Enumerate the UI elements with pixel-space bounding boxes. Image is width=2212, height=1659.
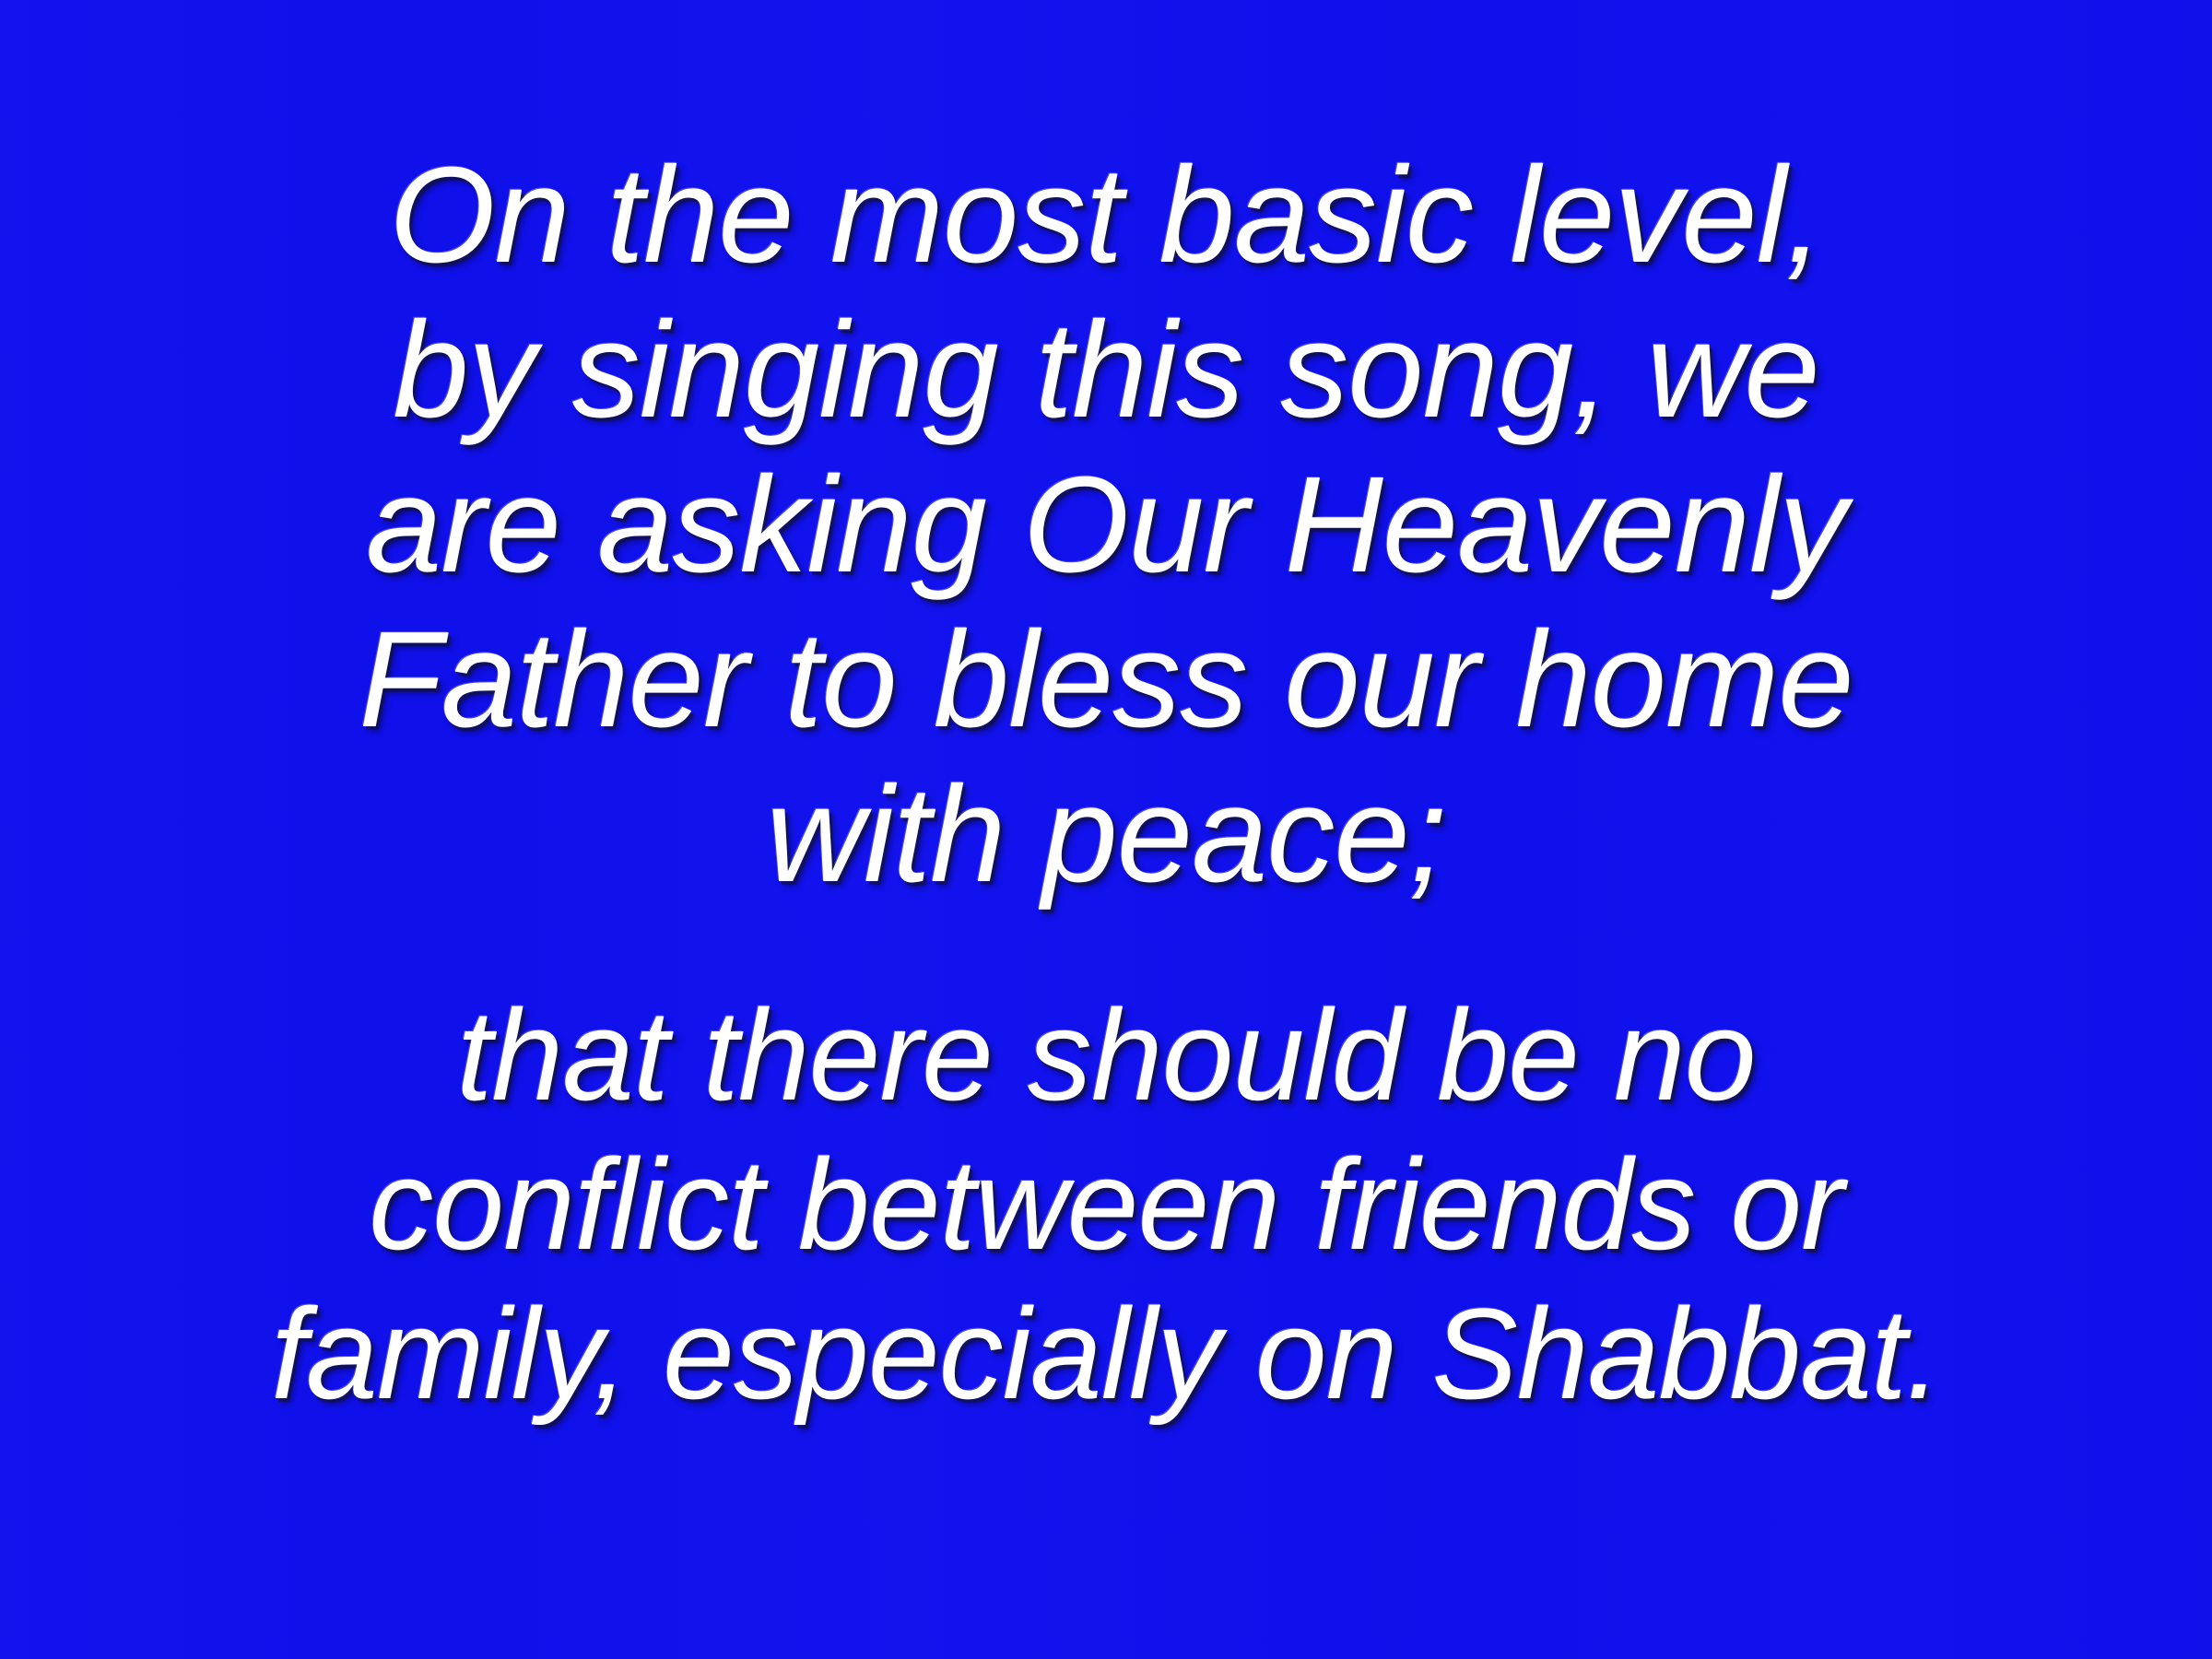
- caption-line: conflict between friends or: [0, 1130, 2212, 1279]
- caption-line: that there should be no: [0, 981, 2212, 1130]
- caption-line: family, especially on Shabbat.: [0, 1279, 2212, 1429]
- caption-line: are asking Our Heavenly: [0, 448, 2212, 603]
- caption-line: Father to bless our home: [0, 603, 2212, 758]
- caption-line: with peace;: [0, 758, 2212, 912]
- caption-slide: On the most basic level, by singing this…: [0, 0, 2212, 1659]
- caption-paragraph-two: that there should be no conflict between…: [0, 981, 2212, 1429]
- caption-text-block: On the most basic level, by singing this…: [0, 0, 2212, 1429]
- caption-line: by singing this song, we: [0, 293, 2212, 448]
- caption-line: On the most basic level,: [0, 138, 2212, 293]
- caption-paragraph-one: On the most basic level, by singing this…: [0, 138, 2212, 912]
